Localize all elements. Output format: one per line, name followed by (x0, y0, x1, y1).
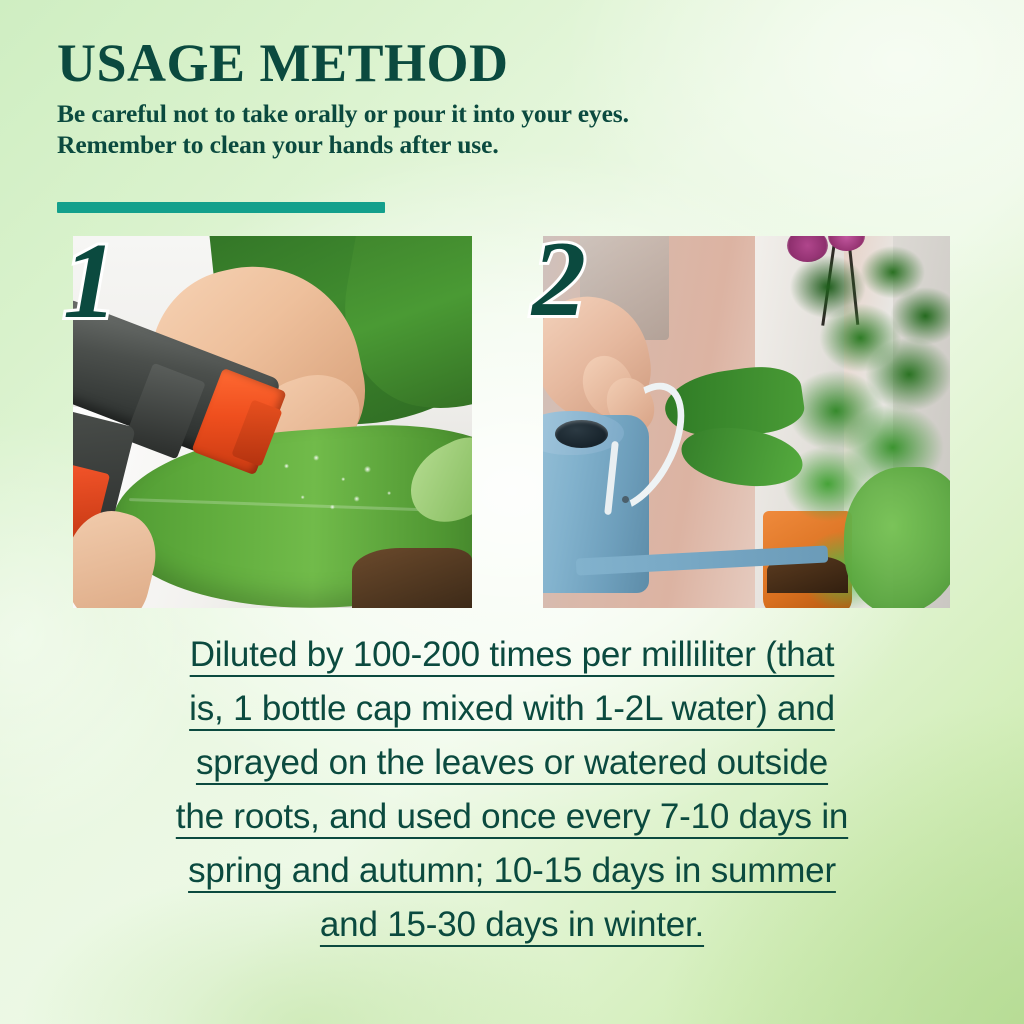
step-number-2: 2 (532, 226, 586, 334)
instructions-line: the roots, and used once every 7-10 days… (62, 790, 962, 844)
step-2-photo (543, 236, 950, 608)
photo1-water-droplets (273, 448, 409, 530)
header-block: USAGE METHOD Be careful not to take oral… (57, 34, 977, 160)
instructions-line: is, 1 bottle cap mixed with 1-2L water) … (62, 682, 962, 736)
step-number-1: 1 (63, 228, 117, 336)
step-1-photo (73, 236, 472, 608)
subtitle-line-1: Be careful not to take orally or pour it… (57, 98, 977, 129)
instructions-paragraph: Diluted by 100-200 times per milliliter … (62, 628, 962, 952)
subtitle-line-2: Remember to clean your hands after use. (57, 129, 977, 160)
header-divider (57, 202, 385, 213)
usage-method-poster: USAGE METHOD Be careful not to take oral… (0, 0, 1024, 1024)
instructions-line: and 15-30 days in winter. (62, 898, 962, 952)
page-title: USAGE METHOD (57, 34, 977, 92)
step-2-photo-artwork (543, 236, 950, 608)
step-1-photo-artwork (73, 236, 472, 608)
photo1-soil (352, 548, 472, 608)
instructions-line: sprayed on the leaves or watered outside (62, 736, 962, 790)
instructions-line: Diluted by 100-200 times per milliliter … (62, 628, 962, 682)
instructions-line: spring and autumn; 10-15 days in summer (62, 844, 962, 898)
photo2-foreground-leaf (844, 467, 950, 608)
